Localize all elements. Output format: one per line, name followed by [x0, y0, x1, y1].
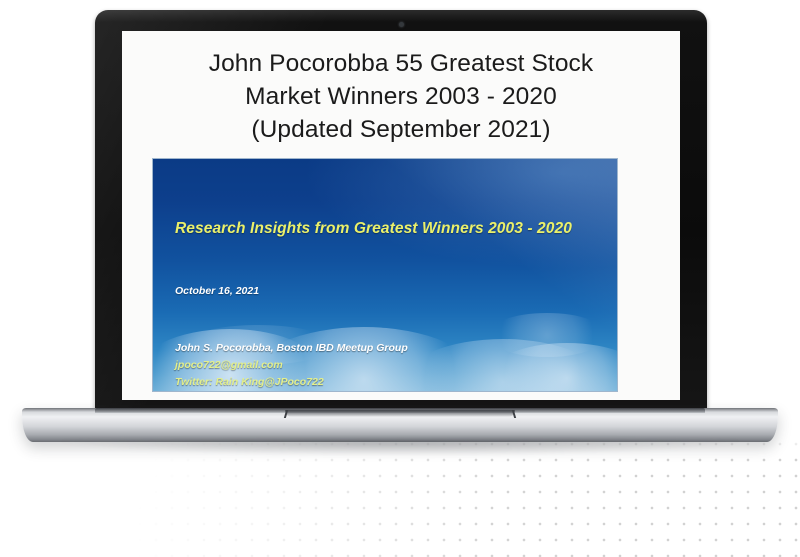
presentation-slide: Research Insights from Greatest Winners … — [152, 158, 618, 392]
webcam-icon — [399, 22, 404, 27]
slide-author-name: John S. Pocorobba, Boston IBD Meetup Gro… — [175, 340, 408, 357]
page-title: John Pocorobba 55 Greatest Stock Market … — [146, 47, 656, 146]
slide-heading: Research Insights from Greatest Winners … — [175, 220, 572, 238]
laptop-base — [22, 408, 778, 442]
slide-contact-block: John S. Pocorobba, Boston IBD Meetup Gro… — [175, 340, 408, 391]
cloud-shape — [487, 343, 618, 392]
laptop-base-notch — [285, 410, 515, 417]
cloud-shape — [487, 313, 607, 357]
laptop-mockup: John Pocorobba 55 Greatest Stock Market … — [0, 0, 800, 470]
screenshot-stage: John Pocorobba 55 Greatest Stock Market … — [0, 0, 800, 557]
laptop-screen-bezel: John Pocorobba 55 Greatest Stock Market … — [95, 10, 707, 414]
document-page: John Pocorobba 55 Greatest Stock Market … — [122, 31, 680, 400]
slide-author-twitter: Twitter: Rain King@JPoco722 — [175, 374, 408, 391]
slide-date: October 16, 2021 — [175, 285, 259, 297]
laptop-drop-shadow — [60, 440, 740, 456]
slide-author-email: jpoco722@gmail.com — [175, 357, 408, 374]
cloud-shape — [403, 339, 603, 392]
laptop-screen: John Pocorobba 55 Greatest Stock Market … — [122, 31, 680, 400]
